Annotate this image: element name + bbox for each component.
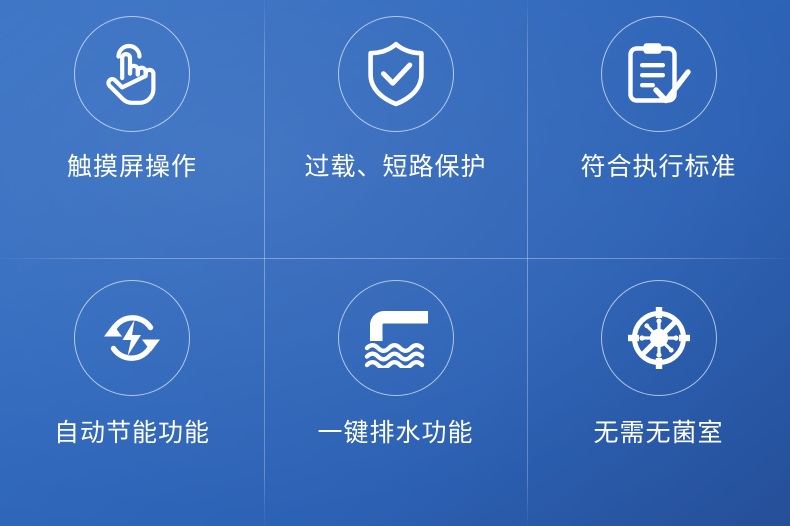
- icon-circle: [601, 16, 717, 132]
- feature-label: 自动节能功能: [54, 420, 210, 448]
- feature-label: 符合执行标准: [580, 154, 736, 182]
- feature-grid: 触摸屏操作 过载、短路保护: [0, 0, 790, 526]
- icon-circle: [338, 16, 454, 132]
- feature-label: 触摸屏操作: [67, 154, 197, 182]
- icon-circle: [74, 16, 190, 132]
- feature-cell-automatic-energy-saving[interactable]: 自动节能功能: [0, 258, 264, 526]
- feature-panel: 触摸屏操作 过载、短路保护: [0, 0, 790, 526]
- icon-circle: [338, 280, 454, 396]
- feature-label: 无需无菌室: [593, 420, 723, 448]
- drain-pipe-water-icon: [362, 308, 430, 368]
- shield-check-icon: [365, 41, 427, 107]
- feature-cell-touchscreen-operation[interactable]: 触摸屏操作: [0, 0, 264, 258]
- feature-label: 过载、短路保护: [304, 154, 486, 182]
- feature-label: 一键排水功能: [317, 420, 473, 448]
- feature-cell-no-sterile-room-needed[interactable]: 无需无菌室: [527, 258, 790, 526]
- icon-circle: [74, 280, 190, 396]
- hand-tap-icon: [101, 42, 163, 106]
- no-germs-icon: [627, 306, 691, 370]
- icon-circle: [601, 280, 717, 396]
- feature-cell-overload-short-circuit-protection[interactable]: 过载、短路保护: [264, 0, 527, 258]
- feature-cell-meets-execution-standards[interactable]: 符合执行标准: [527, 0, 790, 258]
- recycle-bolt-icon: [100, 306, 164, 370]
- clipboard-check-icon: [626, 41, 692, 107]
- feature-cell-one-key-drainage[interactable]: 一键排水功能: [264, 258, 527, 526]
